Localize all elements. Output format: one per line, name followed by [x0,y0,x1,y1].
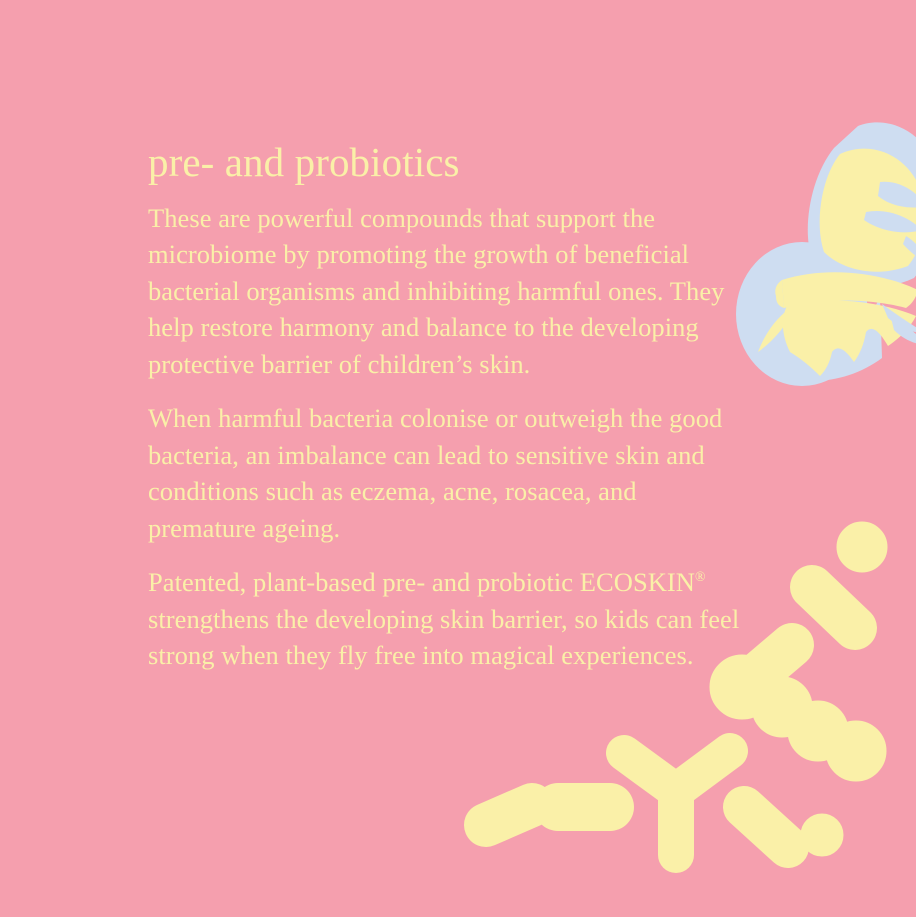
microbe-circle-top [837,522,887,572]
page-title: pre- and probiotics [148,140,748,186]
microbe-circle-bottom [801,814,843,856]
microbe-y-shape [624,751,730,855]
microbe-rod-lower-left-a [486,805,532,825]
butterfly-illustration [730,118,916,408]
page-root: pre- and probiotics These are powerful c… [0,0,916,917]
butterfly-upper-wing-shape [808,122,916,287]
registered-trademark-icon: ® [695,570,706,585]
butterfly-lower-wing-shape [736,242,882,386]
microbe-rod-upper [812,587,855,628]
trademark-tail-text: strengthens the developing skin barrier,… [148,604,739,671]
butterfly-upper-wing-pattern [820,149,916,272]
body-paragraph-2: When harmful bacteria colonise or outwei… [148,400,736,546]
trademark-lead-text: Patented, plant-based pre- and probiotic… [148,567,695,597]
body-paragraph-1: These are powerful compounds that suppor… [148,200,740,383]
butterfly-lower-wing-pattern [758,272,916,376]
text-content-block: pre- and probiotics These are powerful c… [148,140,748,674]
microbe-rod-lower-right [744,807,788,847]
body-paragraph-3: Patented, plant-based pre- and probiotic… [148,564,760,674]
